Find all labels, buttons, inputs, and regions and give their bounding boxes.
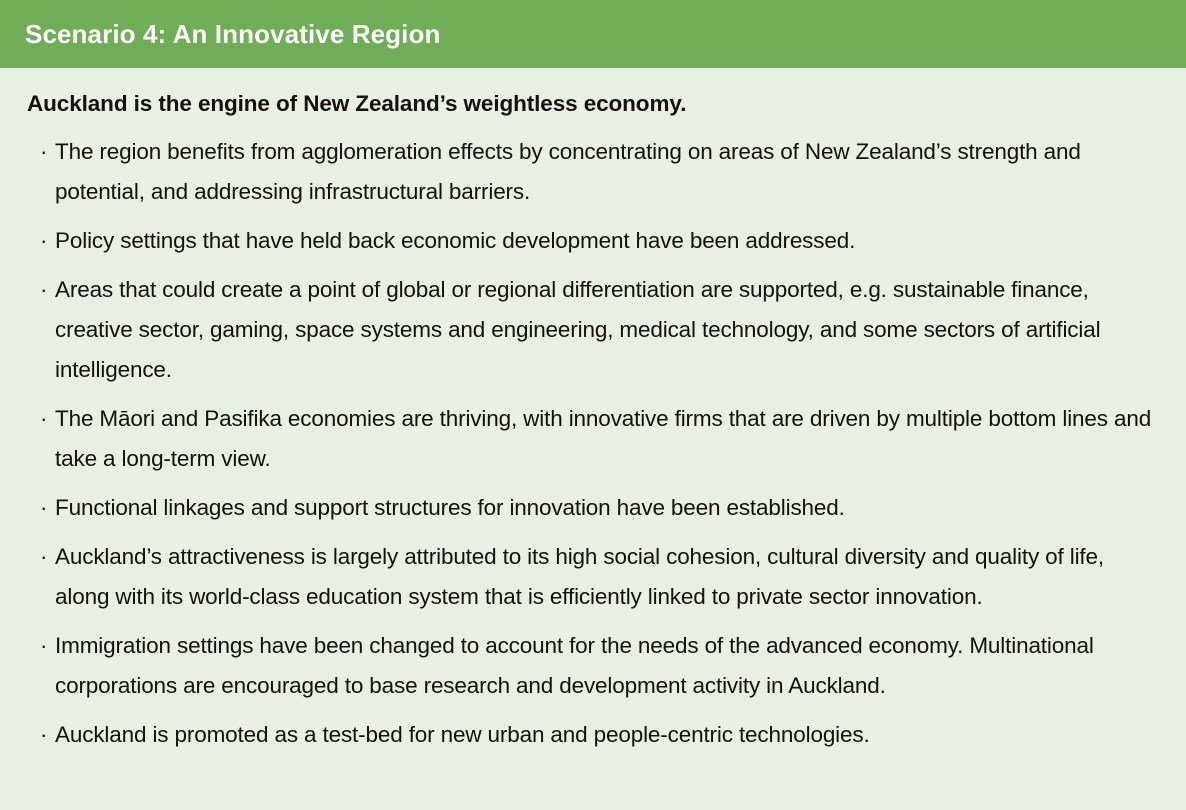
list-item: · Policy settings that have held back ec…	[27, 221, 1161, 261]
list-item-text: The Māori and Pasifika economies are thr…	[55, 399, 1161, 479]
list-item: · Functional linkages and support struct…	[27, 488, 1161, 528]
list-item-text: Areas that could create a point of globa…	[55, 270, 1161, 390]
list-item-text: Auckland’s attractiveness is largely att…	[55, 537, 1161, 617]
card-body: Auckland is the engine of New Zealand’s …	[0, 68, 1186, 810]
scenario-card: Scenario 4: An Innovative Region Aucklan…	[0, 0, 1186, 810]
bullet-point-icon: ·	[40, 221, 47, 261]
list-item: · Auckland is promoted as a test-bed for…	[27, 715, 1161, 755]
bullet-point-icon: ·	[40, 537, 47, 577]
bullet-point-icon: ·	[40, 399, 47, 439]
bullet-point-icon: ·	[40, 488, 47, 528]
bullet-point-icon: ·	[40, 626, 47, 666]
bullet-point-icon: ·	[40, 132, 47, 172]
list-item-text: The region benefits from agglomeration e…	[55, 132, 1161, 212]
list-item: · Areas that could create a point of glo…	[27, 270, 1161, 390]
card-header: Scenario 4: An Innovative Region	[0, 0, 1186, 68]
list-item-text: Policy settings that have held back econ…	[55, 221, 1161, 261]
list-item: · Auckland’s attractiveness is largely a…	[27, 537, 1161, 617]
bullet-list: · The region benefits from agglomeration…	[27, 132, 1161, 755]
list-item: · The region benefits from agglomeration…	[27, 132, 1161, 212]
list-item-text: Functional linkages and support structur…	[55, 488, 1161, 528]
list-item: · Immigration settings have been changed…	[27, 626, 1161, 706]
intro-statement: Auckland is the engine of New Zealand’s …	[27, 90, 1161, 118]
page-title: Scenario 4: An Innovative Region	[25, 20, 440, 49]
bullet-point-icon: ·	[40, 715, 47, 755]
bullet-point-icon: ·	[40, 270, 47, 310]
list-item-text: Immigration settings have been changed t…	[55, 626, 1161, 706]
list-item-text: Auckland is promoted as a test-bed for n…	[55, 715, 1161, 755]
list-item: · The Māori and Pasifika economies are t…	[27, 399, 1161, 479]
